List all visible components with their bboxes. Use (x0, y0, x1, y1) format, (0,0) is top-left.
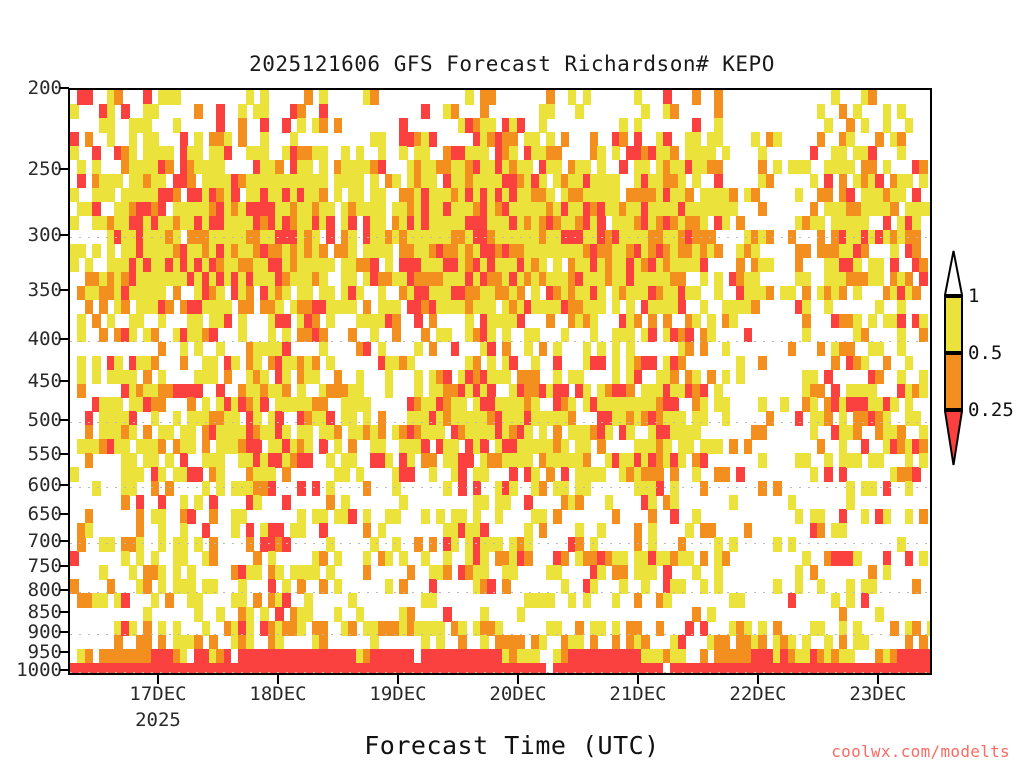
heatmap-cell (282, 425, 291, 440)
heatmap-cell (260, 132, 269, 147)
heatmap-cell (861, 356, 870, 371)
heatmap-cell (612, 356, 621, 371)
heatmap-cell (356, 286, 365, 301)
heatmap-cell (253, 565, 262, 580)
heatmap-cell (378, 216, 387, 231)
heatmap-cell (663, 565, 672, 580)
heatmap-cell (583, 342, 592, 357)
heatmap-cell (363, 509, 372, 524)
heatmap-cell (363, 565, 372, 580)
heatmap-cell (238, 509, 247, 524)
y-axis-tick-450 (60, 380, 69, 382)
heatmap-cell (678, 579, 687, 594)
heatmap-cell (663, 593, 672, 608)
heatmap-cell (385, 370, 394, 385)
heatmap-cell (722, 411, 731, 426)
heatmap-cell (158, 286, 167, 301)
y-axis-tick-label-650: 650 (0, 503, 62, 525)
heatmap-cell (626, 384, 635, 399)
y-axis-tick-600 (60, 484, 69, 486)
heatmap-cell (839, 439, 848, 454)
heatmap-cell (583, 439, 592, 454)
heatmap-cell (151, 453, 160, 468)
heatmap-cell (429, 453, 438, 468)
heatmap-cell (685, 439, 694, 454)
heatmap-cell (612, 635, 621, 650)
heatmap-cell (919, 384, 928, 399)
heatmap-cell (919, 509, 928, 524)
heatmap-cell (238, 328, 247, 343)
heatmap-cell (839, 286, 848, 301)
heatmap-cell (216, 481, 225, 496)
heatmap-cell (831, 90, 840, 105)
heatmap-cell (583, 453, 592, 468)
heatmap-cell (443, 551, 452, 566)
heatmap-cell (502, 495, 511, 510)
heatmap-cell (77, 314, 86, 329)
heatmap-cell (158, 370, 167, 385)
heatmap-cell (751, 272, 760, 287)
heatmap-cell (165, 453, 174, 468)
colorbar-legend: 10.50.25 (944, 296, 963, 466)
heatmap-cell (253, 439, 262, 454)
heatmap-cell (187, 565, 196, 580)
heatmap-cell (912, 188, 921, 203)
heatmap-cell (561, 551, 570, 566)
heatmap-cell (356, 384, 365, 399)
heatmap-cell (231, 523, 240, 538)
heatmap-cell (846, 118, 855, 133)
heatmap-cell (348, 328, 357, 343)
colorbar-segment-high (944, 296, 963, 353)
heatmap-cell (597, 342, 606, 357)
heatmap-cell (795, 411, 804, 426)
heatmap-cell (634, 523, 643, 538)
heatmap-cell (129, 425, 138, 440)
heatmap-cell (919, 425, 928, 440)
heatmap-cell (824, 467, 833, 482)
heatmap-cell (509, 481, 518, 496)
heatmap-cell (260, 397, 269, 412)
heatmap-cell (275, 565, 284, 580)
heatmap-cell (839, 621, 848, 636)
heatmap-cell (253, 551, 262, 566)
heatmap-cell (773, 132, 782, 147)
heatmap-cell (802, 244, 811, 259)
heatmap-cell (824, 370, 833, 385)
heatmap-cell (524, 537, 533, 552)
heatmap-cell (707, 230, 716, 245)
heatmap-cell (634, 90, 643, 105)
heatmap-cell (853, 258, 862, 273)
heatmap-cell (341, 146, 350, 161)
heatmap-cell (231, 411, 240, 426)
heatmap-cell (905, 453, 914, 468)
heatmap-cell (509, 467, 518, 482)
heatmap-cell (429, 342, 438, 357)
heatmap-cell (927, 649, 932, 664)
heatmap-cell (714, 272, 723, 287)
heatmap-cell (700, 453, 709, 468)
heatmap-cell (180, 537, 189, 552)
heatmap-cell (385, 453, 394, 468)
heatmap-cell (502, 579, 511, 594)
heatmap-cell (92, 146, 101, 161)
heatmap-cell (136, 467, 145, 482)
heatmap-cell (158, 495, 167, 510)
y-axis-labels: 2002503003504004505005506006507007508008… (0, 88, 62, 675)
heatmap-cell (173, 565, 182, 580)
heatmap-cell (85, 132, 94, 147)
heatmap-cell (194, 146, 203, 161)
heatmap-cell (275, 300, 284, 315)
heatmap-cell (919, 272, 928, 287)
heatmap-cell (253, 411, 262, 426)
heatmap-cell (158, 174, 167, 189)
heatmap-cell (758, 635, 767, 650)
heatmap-cell (99, 328, 108, 343)
heatmap-cell (370, 258, 379, 273)
heatmap-cell (685, 523, 694, 538)
heatmap-cell (817, 342, 826, 357)
heatmap-cell (85, 649, 94, 664)
heatmap-cell (92, 314, 101, 329)
heatmap-cell (487, 384, 496, 399)
y-axis-tick-label-500: 500 (0, 409, 62, 431)
heatmap-cell (194, 635, 203, 650)
heatmap-cell (129, 411, 138, 426)
heatmap-cell (312, 565, 321, 580)
heatmap-cell (824, 411, 833, 426)
heatmap-cell (758, 453, 767, 468)
heatmap-cell (99, 593, 108, 608)
heatmap-cell (897, 537, 906, 552)
credit-watermark: coolwx.com/modelts (831, 742, 1010, 761)
heatmap-cell (312, 370, 321, 385)
heatmap-cell (414, 537, 423, 552)
heatmap-cell (685, 621, 694, 636)
heatmap-cell (304, 593, 313, 608)
heatmap-cell (304, 90, 313, 105)
heatmap-cell (524, 425, 533, 440)
y-axis-tick-400 (60, 338, 69, 340)
heatmap-cell (853, 551, 862, 566)
heatmap-cell (370, 90, 379, 105)
heatmap-cell (700, 481, 709, 496)
heatmap-cell (253, 495, 262, 510)
heatmap-cell (246, 537, 255, 552)
heatmap-cell (209, 579, 218, 594)
heatmap-cell (363, 551, 372, 566)
heatmap-cell (407, 467, 416, 482)
y-axis-tick-300 (60, 234, 69, 236)
heatmap-cell (246, 621, 255, 636)
heatmap-cell (502, 328, 511, 343)
heatmap-cell (758, 202, 767, 217)
heatmap-cell (319, 523, 328, 538)
heatmap-cell (883, 356, 892, 371)
heatmap-cell (641, 160, 650, 175)
heatmap-cell (714, 286, 723, 301)
heatmap-cell (151, 593, 160, 608)
y-axis-tick-350 (60, 289, 69, 291)
heatmap-cell (70, 216, 79, 231)
heatmap-cell (685, 328, 694, 343)
heatmap-cell (209, 328, 218, 343)
heatmap-cell (905, 174, 914, 189)
heatmap-cell (897, 188, 906, 203)
y-axis-tick-label-250: 250 (0, 158, 62, 180)
heatmap-cell (868, 90, 877, 105)
heatmap-cell (714, 565, 723, 580)
heatmap-cell (846, 649, 855, 664)
heatmap-cell (216, 453, 225, 468)
heatmap-cell (487, 300, 496, 315)
heatmap-cell (868, 481, 877, 496)
heatmap-cell (802, 328, 811, 343)
heatmap-cell (912, 244, 921, 259)
heatmap-cell (692, 132, 701, 147)
heatmap-cell (429, 537, 438, 552)
heatmap-cell (334, 370, 343, 385)
heatmap-cell (736, 593, 745, 608)
y-axis-ticks (60, 88, 70, 675)
heatmap-cell (875, 342, 884, 357)
heatmap-cell (553, 342, 562, 357)
heatmap-cell (363, 397, 372, 412)
heatmap-cell (700, 258, 709, 273)
heatmap-cell (151, 132, 160, 147)
heatmap-cell (297, 118, 306, 133)
heatmap-cell (173, 286, 182, 301)
heatmap-cell (326, 314, 335, 329)
heatmap-cell (722, 342, 731, 357)
heatmap-cell (714, 244, 723, 259)
heatmap-cell (546, 467, 555, 482)
heatmap-cell (85, 523, 94, 538)
heatmap-cell (458, 621, 467, 636)
heatmap-cell (326, 258, 335, 273)
heatmap-cell (692, 314, 701, 329)
heatmap-cell (180, 342, 189, 357)
heatmap-cell (151, 551, 160, 566)
heatmap-cell (795, 579, 804, 594)
heatmap-cell (238, 118, 247, 133)
colorbar-segment-mid (944, 353, 963, 410)
heatmap-cell (590, 328, 599, 343)
heatmap-cell (341, 467, 350, 482)
heatmap-cell (766, 174, 775, 189)
heatmap-cell (868, 314, 877, 329)
heatmap-cell (70, 258, 79, 273)
heatmap-cell (663, 439, 672, 454)
heatmap-cell (70, 146, 79, 161)
y-axis-tick-500 (60, 419, 69, 421)
heatmap-cell (480, 104, 489, 119)
heatmap-cell (524, 495, 533, 510)
heatmap-cell (634, 370, 643, 385)
heatmap-cell (180, 495, 189, 510)
heatmap-cell (443, 481, 452, 496)
heatmap-cell (129, 146, 138, 161)
heatmap-cell (85, 509, 94, 524)
heatmap-cell (875, 132, 884, 147)
heatmap-cell (868, 384, 877, 399)
heatmap-cell (839, 411, 848, 426)
heatmap-cell (399, 118, 408, 133)
heatmap-cell (678, 356, 687, 371)
heatmap-cell (480, 467, 489, 482)
heatmap-cell (290, 132, 299, 147)
heatmap-cell (678, 174, 687, 189)
heatmap-cell (151, 481, 160, 496)
heatmap-cell (648, 537, 657, 552)
heatmap-cell (326, 202, 335, 217)
heatmap-cell (531, 356, 540, 371)
heatmap-cell (92, 160, 101, 175)
heatmap-cell (729, 202, 738, 217)
heatmap-cell (268, 579, 277, 594)
heatmap-cell (209, 509, 218, 524)
y-axis-tick-label-800: 800 (0, 579, 62, 601)
heatmap-cell (846, 481, 855, 496)
heatmap-cell (158, 621, 167, 636)
x-axis-tick-label-23DEC: 23DEC (849, 683, 906, 705)
heatmap-cell (421, 509, 430, 524)
heatmap-cell (202, 481, 211, 496)
heatmap-cell (480, 565, 489, 580)
heatmap-cell (451, 342, 460, 357)
heatmap-cell (531, 328, 540, 343)
heatmap-cell (378, 411, 387, 426)
heatmap-cell (224, 132, 233, 147)
heatmap-cell (619, 118, 628, 133)
heatmap-cell (194, 342, 203, 357)
heatmap-cell (341, 495, 350, 510)
heatmap-cell (597, 439, 606, 454)
heatmap-cell (421, 328, 430, 343)
heatmap-cell (480, 635, 489, 650)
heatmap-cell (121, 300, 130, 315)
heatmap-cell (231, 356, 240, 371)
heatmap-cell (348, 300, 357, 315)
heatmap-cell (722, 146, 731, 161)
heatmap-cell (92, 202, 101, 217)
y-axis-tick-label-600: 600 (0, 474, 62, 496)
heatmap-cell (810, 370, 819, 385)
heatmap-cell (136, 537, 145, 552)
heatmap-cell (246, 523, 255, 538)
heatmap-cell (319, 146, 328, 161)
heatmap-cell (246, 300, 255, 315)
heatmap-cell (846, 593, 855, 608)
heatmap-cell (824, 453, 833, 468)
heatmap-cell (378, 160, 387, 175)
heatmap-cell (700, 551, 709, 566)
heatmap-cell (260, 146, 269, 161)
heatmap-cell (751, 132, 760, 147)
heatmap-cell (788, 286, 797, 301)
heatmap-cell (670, 397, 679, 412)
heatmap-cell (795, 258, 804, 273)
y-axis-tick-label-450: 450 (0, 370, 62, 392)
heatmap-cell (77, 328, 86, 343)
heatmap-cell (824, 118, 833, 133)
heatmap-cells (70, 90, 930, 673)
heatmap-cell (817, 439, 826, 454)
heatmap-cell (597, 216, 606, 231)
heatmap-cell (795, 509, 804, 524)
heatmap-cell (143, 635, 152, 650)
heatmap-cell (85, 453, 94, 468)
heatmap-cell (539, 174, 548, 189)
heatmap-cell (297, 481, 306, 496)
heatmap-cell (605, 495, 614, 510)
heatmap-cell (326, 216, 335, 231)
heatmap-cell (905, 635, 914, 650)
heatmap-cell (897, 104, 906, 119)
heatmap-cell (509, 132, 518, 147)
heatmap-cell (473, 356, 482, 371)
y-axis-tick-650 (60, 513, 69, 515)
heatmap-cell (912, 230, 921, 245)
heatmap-cell (297, 579, 306, 594)
heatmap-cell (612, 300, 621, 315)
heatmap-cell (260, 118, 269, 133)
heatmap-cell (568, 411, 577, 426)
y-axis-tick-800 (60, 589, 69, 591)
heatmap-cell (385, 258, 394, 273)
heatmap-cell (70, 579, 79, 594)
heatmap-cell (187, 397, 196, 412)
heatmap-cell (348, 244, 357, 259)
heatmap-cell (77, 537, 86, 552)
x-axis-tick-label-19DEC: 19DEC (369, 683, 426, 705)
heatmap-cell (612, 146, 621, 161)
heatmap-cell (561, 439, 570, 454)
heatmap-cell (173, 188, 182, 203)
heatmap-cell (758, 356, 767, 371)
heatmap-cell (758, 160, 767, 175)
heatmap-cell (824, 188, 833, 203)
heatmap-cell (304, 286, 313, 301)
heatmap-cell (443, 565, 452, 580)
heatmap-cell (919, 174, 928, 189)
heatmap-cell (238, 314, 247, 329)
heatmap-cell (648, 565, 657, 580)
heatmap-cell (619, 132, 628, 147)
heatmap-cell (173, 118, 182, 133)
heatmap-cell (714, 537, 723, 552)
y-axis-tick-850 (60, 611, 69, 613)
heatmap-cell (275, 411, 284, 426)
heatmap-cell (817, 621, 826, 636)
heatmap-cell (839, 607, 848, 622)
heatmap-cell (897, 370, 906, 385)
heatmap-cell (319, 118, 328, 133)
heatmap-cell (282, 467, 291, 482)
heatmap-cell (363, 523, 372, 538)
heatmap-cell (268, 481, 277, 496)
heatmap-cell (919, 453, 928, 468)
heatmap-cell (707, 607, 716, 622)
heatmap-cell (399, 146, 408, 161)
heatmap-cell (861, 118, 870, 133)
heatmap-cell (319, 272, 328, 287)
heatmap-cell (407, 356, 416, 371)
heatmap-cell (392, 537, 401, 552)
heatmap-cell (626, 328, 635, 343)
